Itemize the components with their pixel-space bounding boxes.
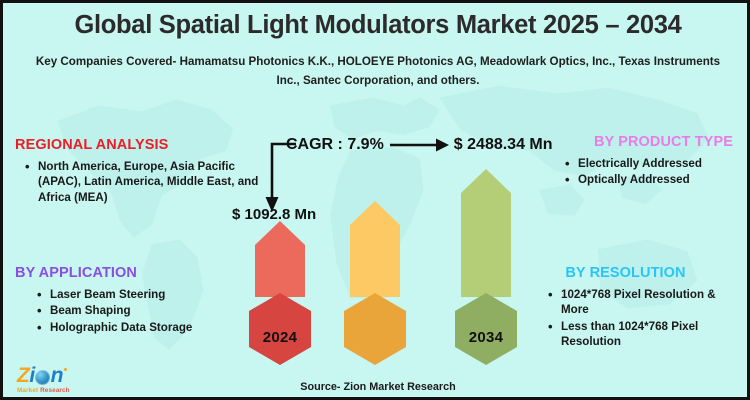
section-by-product-type: BY PRODUCT TYPE Electrically Addressed O… (523, 134, 733, 189)
section-heading-by-application: BY APPLICATION (15, 265, 265, 281)
base-value-label: $ 1092.8 Mn (232, 206, 316, 223)
infographic-canvas: Global Spatial Light Modulators Market 2… (0, 0, 750, 400)
list-item: Laser Beam Steering (35, 287, 265, 302)
key-companies-subtitle: Key Companies Covered- Hamamatsu Photoni… (3, 52, 750, 90)
logo-tagline: Market Research (17, 387, 103, 394)
section-heading-by-resolution: BY RESOLUTION (518, 265, 733, 281)
section-regional-analysis: REGIONAL ANALYSIS North America, Europe,… (15, 137, 265, 206)
logo-tagline-research: Research (40, 387, 70, 394)
forecast-value-label: $ 2488.34 Mn (454, 136, 553, 154)
list-item: Optically Addressed (563, 172, 733, 187)
header: Global Spatial Light Modulators Market 2… (3, 3, 750, 90)
list-item: Holographic Data Storage (35, 320, 265, 335)
logo-letter-i: i (29, 365, 34, 386)
list-item: Beam Shaping (35, 303, 265, 318)
section-heading-by-product-type: BY PRODUCT TYPE (523, 134, 733, 150)
by-resolution-list: 1024*768 Pixel Resolution & More Less th… (518, 287, 733, 349)
cagr-label: CAGR : 7.9% (286, 136, 384, 154)
logo-letter-n: n (51, 365, 63, 386)
arrow-right-icon (390, 137, 450, 153)
list-item: 1024*768 Pixel Resolution & More (546, 287, 733, 318)
bar-label-2034: 2034 (455, 329, 517, 346)
source-note: Source- Zion Market Research (3, 381, 750, 393)
by-product-type-list: Electrically Addressed Optically Address… (523, 156, 733, 188)
page-title: Global Spatial Light Modulators Market 2… (3, 11, 750, 40)
section-by-resolution: BY RESOLUTION 1024*768 Pixel Resolution … (518, 265, 733, 350)
cagr-callout: CAGR : 7.9% $ 2488.34 Mn (286, 136, 553, 154)
list-item: Electrically Addressed (563, 156, 733, 171)
logo-tagline-market: Market (17, 387, 38, 394)
list-item: North America, Europe, Asia Pacific (APA… (23, 159, 265, 205)
by-application-list: Laser Beam Steering Beam Shaping Hologra… (15, 287, 265, 335)
regional-analysis-list: North America, Europe, Asia Pacific (APA… (15, 159, 265, 205)
logo-dot-icon (64, 368, 67, 371)
logo-letter-z: Z (17, 365, 29, 386)
arrow-elbow-down-icon (262, 142, 298, 214)
bar-label-2024: 2024 (249, 329, 311, 346)
section-heading-regional-analysis: REGIONAL ANALYSIS (15, 137, 265, 153)
logo-wordmark: Z i n (17, 365, 103, 386)
section-by-application: BY APPLICATION Laser Beam Steering Beam … (15, 265, 265, 336)
zion-market-research-logo: Z i n Market Research (17, 365, 103, 397)
globe-icon (35, 370, 50, 385)
bar-middle (344, 201, 406, 365)
list-item: Less than 1024*768 Pixel Resolution (546, 319, 733, 350)
